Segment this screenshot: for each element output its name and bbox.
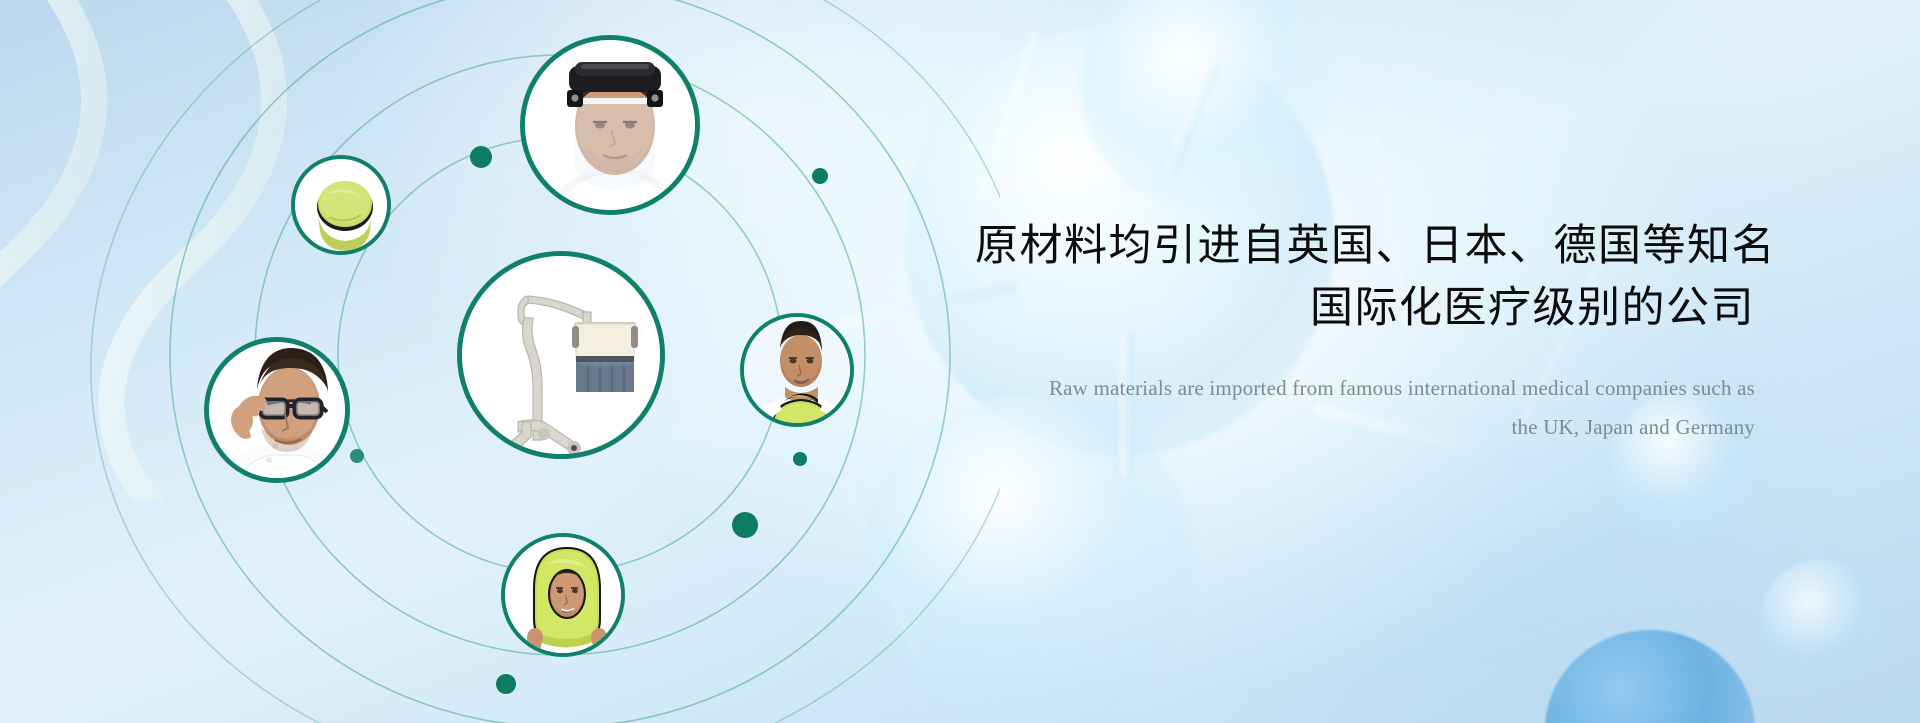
- face-shield-photo-inner: [525, 40, 695, 210]
- lead-hood-photo-inner: [505, 537, 621, 653]
- subtitle-line-1: Raw materials are imported from famous i…: [975, 369, 1755, 408]
- headline-line-1: 原材料均引进自英国、日本、德国等知名: [975, 215, 1755, 277]
- orbit-dot-4: [793, 452, 807, 466]
- background-streak-4: [843, 477, 922, 664]
- banner-subtitle: Raw materials are imported from famous i…: [975, 369, 1755, 447]
- orbit-dot-1: [470, 146, 492, 168]
- orbit-dot-5: [732, 512, 758, 538]
- mobile-shield-photo[interactable]: [457, 251, 665, 459]
- orbit-dot-6: [496, 674, 516, 694]
- banner-text-block: 原材料均引进自英国、日本、德国等知名 国际化医疗级别的公司 Raw materi…: [975, 215, 1755, 447]
- thyroid-collar-photo[interactable]: [740, 313, 854, 427]
- thyroid-collar-photo-inner: [744, 317, 850, 423]
- lead-cap-photo[interactable]: [291, 155, 391, 255]
- mobile-shield-photo-inner: [462, 256, 660, 454]
- orbit-dot-3: [350, 449, 364, 463]
- page-title: 原材料均引进自英国、日本、德国等知名 国际化医疗级别的公司: [975, 215, 1755, 339]
- hero-banner: 原材料均引进自英国、日本、德国等知名 国际化医疗级别的公司 Raw materi…: [0, 0, 1920, 723]
- lead-cap-photo-inner: [295, 159, 387, 251]
- orbit-dot-2: [812, 168, 828, 184]
- molecule-atom-blue-icon: [1545, 630, 1755, 723]
- background-streak-1: [979, 33, 1037, 197]
- molecule-atom-small-icon: [1760, 560, 1880, 680]
- lead-hood-photo[interactable]: [501, 533, 625, 657]
- molecule-bond-2-icon: [1163, 62, 1221, 179]
- face-shield-photo[interactable]: [520, 35, 700, 215]
- lead-glasses-photo[interactable]: [204, 337, 350, 483]
- headline-line-2: 国际化医疗级别的公司: [975, 277, 1755, 339]
- lead-glasses-photo-inner: [209, 342, 345, 478]
- molecule-atom-top-icon: [1080, 0, 1330, 210]
- subtitle-line-2: the UK, Japan and Germany: [975, 408, 1755, 447]
